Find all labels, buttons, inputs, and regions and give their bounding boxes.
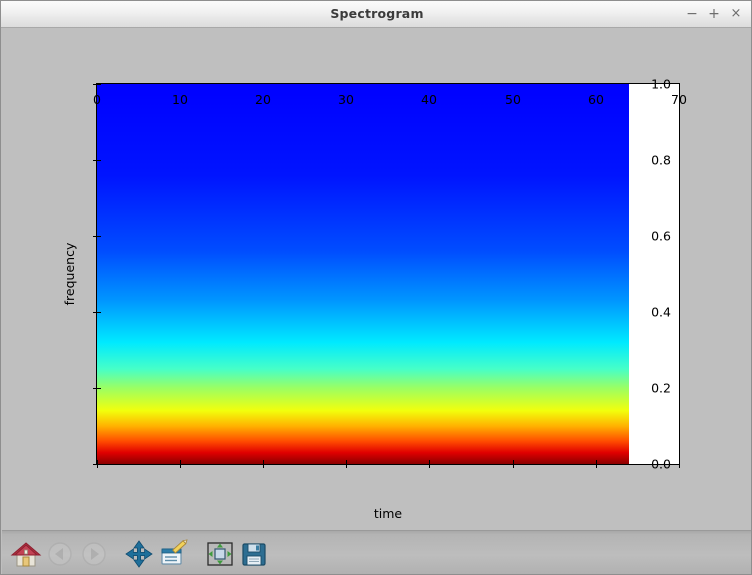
x-tick-mark <box>180 464 181 468</box>
x-tick-mark <box>263 464 264 468</box>
y-tick-label: 0.0 <box>627 457 671 472</box>
maximize-button[interactable]: + <box>705 5 723 23</box>
y-tick-mark-inner <box>97 236 101 237</box>
y-tick-label: 0.8 <box>627 153 671 168</box>
subplots-button[interactable] <box>204 538 236 570</box>
window-titlebar[interactable]: Spectrogram − + × <box>1 1 752 28</box>
x-tick-mark-inner <box>346 460 347 464</box>
subplot-config-icon <box>204 538 236 570</box>
x-tick-mark-inner <box>429 460 430 464</box>
window-title: Spectrogram <box>1 1 752 27</box>
back-arrow-icon <box>44 538 76 570</box>
y-tick-mark-inner <box>97 160 101 161</box>
x-tick-mark <box>513 464 514 468</box>
x-tick-mark-inner <box>679 460 680 464</box>
y-tick-mark-inner <box>97 388 101 389</box>
x-tick-mark-inner <box>513 460 514 464</box>
x-tick-mark-inner <box>180 460 181 464</box>
navigation-toolbar <box>2 530 752 575</box>
minimize-button[interactable]: − <box>683 5 701 23</box>
y-tick-mark-inner <box>97 84 101 85</box>
save-button[interactable] <box>238 538 270 570</box>
spectrogram-window: Spectrogram − + × Spectrogram of y[0] fr… <box>0 0 752 575</box>
x-axis-label: time <box>96 506 680 521</box>
y-axis-label: frequency <box>62 83 78 465</box>
x-tick-label: 20 <box>243 92 283 107</box>
y-tick-label: 0.2 <box>627 381 671 396</box>
forward-button[interactable] <box>78 538 110 570</box>
x-tick-label: 60 <box>576 92 616 107</box>
plot-axes[interactable]: 0.0 0.2 0.4 0.6 0.8 1.0 <box>96 83 680 465</box>
floppy-disk-icon <box>238 538 270 570</box>
x-tick-mark <box>679 464 680 468</box>
zoom-button[interactable] <box>157 538 189 570</box>
note-pencil-icon <box>157 538 189 570</box>
x-tick-label: 40 <box>409 92 449 107</box>
home-icon <box>10 538 42 570</box>
y-tick-label: 0.4 <box>627 305 671 320</box>
x-tick-label: 0 <box>77 92 117 107</box>
y-tick-label: 0.6 <box>627 229 671 244</box>
x-tick-label: 10 <box>160 92 200 107</box>
home-button[interactable] <box>10 538 42 570</box>
back-button[interactable] <box>44 538 76 570</box>
x-tick-label: 30 <box>326 92 366 107</box>
move-cross-icon <box>123 538 155 570</box>
forward-arrow-icon <box>78 538 110 570</box>
x-tick-mark <box>596 464 597 468</box>
x-tick-mark-inner <box>97 460 98 464</box>
x-tick-mark-inner <box>596 460 597 464</box>
x-tick-mark <box>429 464 430 468</box>
pan-button[interactable] <box>123 538 155 570</box>
x-tick-mark-inner <box>263 460 264 464</box>
x-tick-label: 70 <box>659 92 699 107</box>
spectrogram-image <box>97 84 629 464</box>
x-tick-mark <box>346 464 347 468</box>
close-button[interactable]: × <box>727 5 745 23</box>
x-tick-mark <box>97 464 98 468</box>
matplotlib-figure-canvas[interactable]: Spectrogram of y[0] frequency 0.0 0.2 0.… <box>2 28 752 530</box>
y-tick-mark-inner <box>97 312 101 313</box>
x-tick-label: 50 <box>493 92 533 107</box>
y-tick-label: 1.0 <box>627 77 671 92</box>
